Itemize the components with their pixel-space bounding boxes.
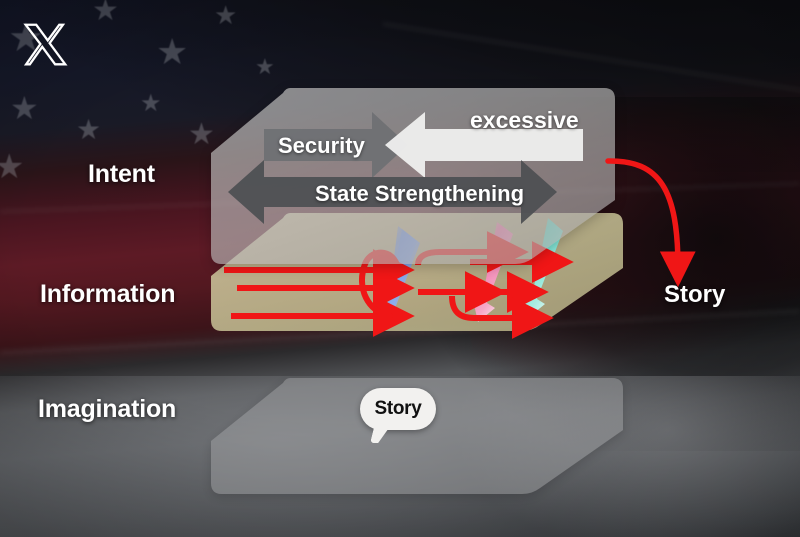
loop-arrow (362, 253, 398, 316)
output-arrow-3 (452, 296, 525, 318)
cyan-arrow (523, 218, 563, 318)
axis-label-information: Information (40, 280, 175, 309)
state-strengthening-arrow-label: State Strengthening (315, 181, 524, 207)
story-output-label: Story (664, 281, 725, 309)
story-bubble-label: Story (374, 398, 421, 420)
branch-arrow-top (418, 252, 500, 265)
security-arrow-label: Security (278, 133, 365, 159)
layer-stack-diagram (0, 0, 800, 537)
information-plane (0, 0, 800, 537)
blue-arrow (377, 226, 420, 331)
excessive-arrow-label: excessive (470, 107, 579, 134)
intent-arrow-glyphs (0, 0, 800, 537)
imagination-plane (0, 0, 800, 537)
axis-label-intent: Intent (88, 160, 155, 189)
story-speech-bubble: Story (360, 388, 436, 430)
intent-plane (0, 0, 800, 537)
information-flow-arrows (0, 0, 800, 537)
axis-label-imagination: Imagination (38, 395, 176, 424)
pink-arrow (473, 222, 513, 322)
story-output-arrow (0, 0, 800, 537)
